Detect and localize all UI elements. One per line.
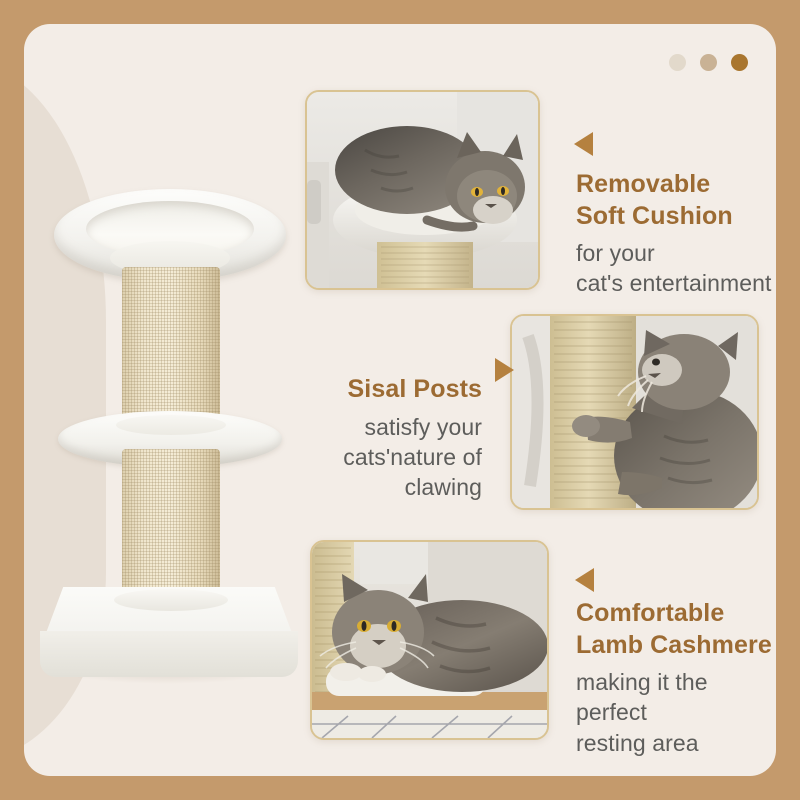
feature-text-1: RemovableSoft Cushion for yourcat's ente…	[576, 169, 776, 299]
feature-body-2: satisfy yourcats'nature ofclawing	[296, 412, 482, 503]
pagination-dot-2[interactable]	[700, 54, 717, 71]
feature-body-1: for yourcat's entertainment	[576, 238, 776, 299]
feature-heading-1: RemovableSoft Cushion	[576, 169, 776, 232]
feature-photo-3	[312, 542, 547, 738]
product-image-cat-tree	[34, 149, 304, 709]
product-part-disc-collar	[116, 415, 226, 435]
feature-text-2: Sisal Posts satisfy yourcats'nature ofcl…	[296, 374, 482, 503]
product-part-upper-sisal-post	[122, 267, 220, 427]
feature-photo-1	[307, 92, 538, 288]
feature-body-3: making it theperfectresting area	[576, 667, 776, 758]
pagination-dot-1[interactable]	[669, 54, 686, 71]
feature-text-3: ComfortableLamb Cashmere making it thepe…	[576, 598, 776, 758]
feature-photo-2	[512, 316, 757, 508]
content-panel: RemovableSoft Cushion for yourcat's ente…	[24, 24, 776, 776]
product-part-lower-sisal-post	[122, 449, 220, 609]
product-part-base-collar	[114, 589, 228, 611]
feature-photo-card-2[interactable]	[510, 314, 759, 510]
pagination-dots	[669, 54, 748, 71]
feature-photo-card-1[interactable]	[305, 90, 540, 290]
feature-arrow-2	[495, 358, 514, 382]
feature-heading-2: Sisal Posts	[296, 374, 482, 406]
feature-arrow-1	[574, 132, 593, 156]
feature-photo-card-3[interactable]	[310, 540, 549, 740]
product-infographic-frame: RemovableSoft Cushion for yourcat's ente…	[0, 0, 800, 800]
product-part-base-front	[40, 631, 298, 677]
feature-arrow-3	[575, 568, 594, 592]
pagination-dot-3[interactable]	[731, 54, 748, 71]
feature-heading-3: ComfortableLamb Cashmere	[576, 598, 776, 661]
